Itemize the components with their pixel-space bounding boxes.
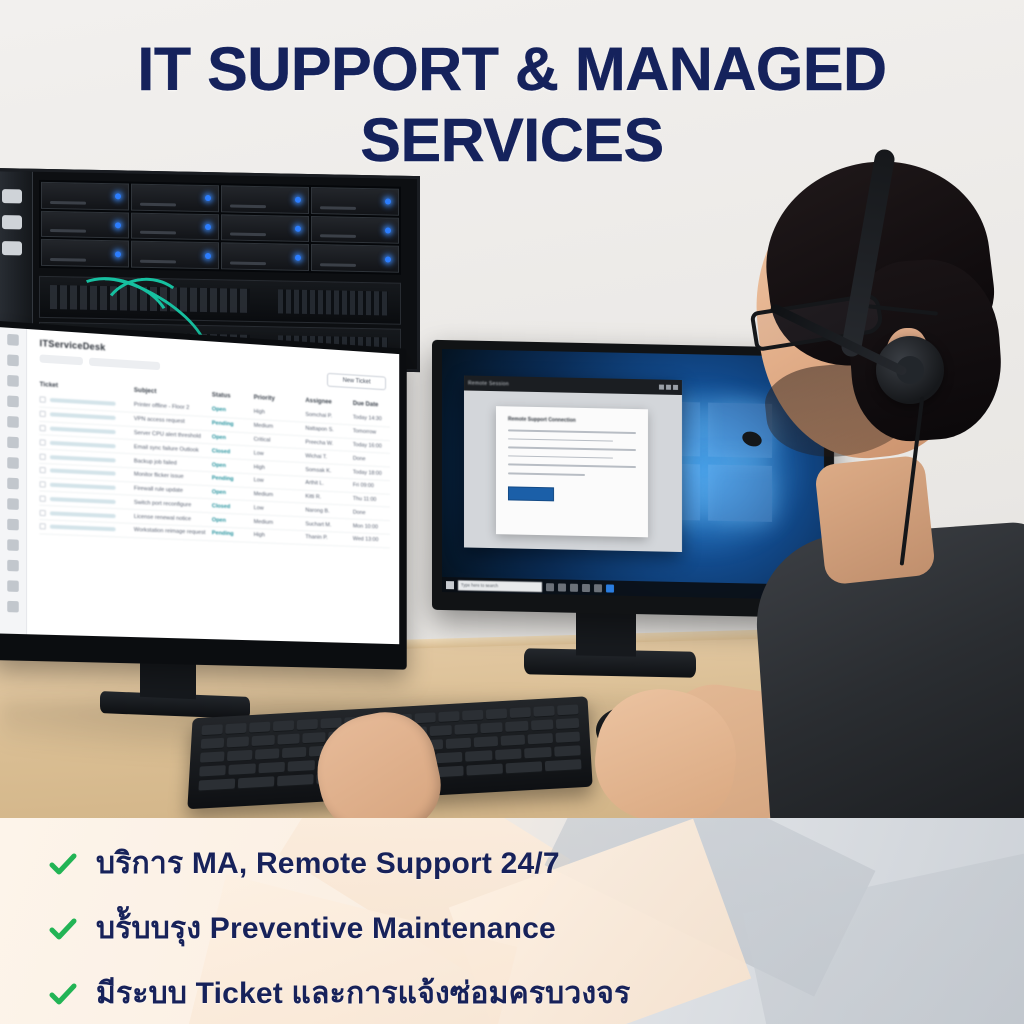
- ticket-table: TicketSubjectStatusPriorityAssigneeDue D…: [40, 381, 390, 548]
- drive-handle: [50, 258, 86, 262]
- text-line: [508, 429, 636, 433]
- drive-activity-led: [115, 222, 121, 228]
- keyboard-key[interactable]: [439, 711, 460, 723]
- knowledge-icon[interactable]: [7, 498, 18, 510]
- drive-bay: [221, 185, 309, 213]
- agent-neck: [814, 455, 936, 586]
- ticket-subject-cell: Workstation reimage request: [134, 527, 212, 536]
- keyboard-key[interactable]: [302, 732, 325, 744]
- text-line: [508, 438, 613, 442]
- ticket-id-label: [50, 455, 116, 462]
- keyboard-key[interactable]: [200, 751, 225, 763]
- poster-root: IT SUPPORT & MANAGED SERVICES: [0, 0, 1024, 1024]
- row-checkbox[interactable]: [40, 397, 46, 403]
- ticket-priority-cell: Low: [254, 450, 306, 459]
- ticket-assignee-cell: Kitti R.: [305, 494, 353, 502]
- keyboard-key[interactable]: [296, 719, 317, 731]
- ticket-assignee-cell: Somsak K.: [305, 467, 353, 475]
- feature-text: บร้ับบรุง Preventive Maintenance: [96, 905, 556, 952]
- ticket-due-cell: Fri 09:00: [353, 483, 390, 491]
- drive-bay: [221, 214, 309, 242]
- keyboard-key[interactable]: [201, 724, 222, 736]
- ticket-due-cell: Done: [353, 456, 390, 464]
- ticket-priority-cell: Low: [254, 478, 306, 486]
- minimize-icon[interactable]: [659, 385, 664, 390]
- maximize-icon[interactable]: [666, 385, 671, 390]
- ticket-status-cell: Open: [212, 434, 254, 442]
- drive-bay: [131, 241, 219, 269]
- grid-icon[interactable]: [7, 580, 18, 592]
- keyboard-key[interactable]: [277, 734, 300, 746]
- drive-bay: [311, 187, 399, 215]
- ticket-id-label: [50, 469, 116, 476]
- ticket-status-cell: Open: [212, 517, 254, 525]
- store-icon[interactable]: [594, 584, 602, 592]
- feature-list: บริการ MA, Remote Support 24/7บร้ับบรุง …: [48, 840, 630, 1017]
- keyboard-key[interactable]: [510, 707, 531, 719]
- browser-icon[interactable]: [606, 584, 614, 592]
- ticket-icon[interactable]: [7, 395, 18, 407]
- ticket-column-header[interactable]: Status: [212, 391, 254, 400]
- drive-handle: [230, 261, 266, 265]
- keyboard-key[interactable]: [226, 736, 249, 748]
- drive-handle: [320, 235, 356, 239]
- drive-bay: [131, 212, 219, 240]
- drive-activity-led: [295, 254, 301, 260]
- ticket-status-cell: Open: [212, 462, 254, 470]
- keyboard-key[interactable]: [506, 761, 543, 774]
- ticket-assignee-cell: Thanin P.: [305, 535, 353, 543]
- help-icon[interactable]: [7, 601, 18, 613]
- keyboard-key[interactable]: [229, 763, 256, 775]
- support-agent: [700, 140, 1024, 840]
- start-button-icon[interactable]: [446, 581, 454, 589]
- drive-handle: [230, 233, 266, 237]
- text-line: [508, 464, 636, 468]
- drive-activity-led: [385, 256, 391, 262]
- ticket-subject-cell: Server CPU alert threshold: [134, 430, 212, 440]
- asset-icon[interactable]: [7, 478, 18, 490]
- keyboard-key[interactable]: [227, 750, 252, 762]
- tag-icon[interactable]: [7, 519, 18, 531]
- keyboard-key[interactable]: [255, 748, 280, 760]
- ticket-id-cell[interactable]: [40, 397, 134, 409]
- check-icon: [48, 979, 78, 1009]
- page-title: IT SUPPORT & MANAGED SERVICES: [0, 34, 1024, 176]
- ticket-priority-cell: Medium: [254, 491, 306, 499]
- ticket-id-cell[interactable]: [40, 509, 134, 519]
- flag-icon[interactable]: [7, 560, 18, 572]
- ticket-due-cell: Today 16:00: [353, 442, 390, 450]
- feature-item: บริการ MA, Remote Support 24/7: [48, 840, 630, 887]
- keyboard-key[interactable]: [446, 738, 471, 750]
- dashboard-icon[interactable]: [7, 334, 18, 346]
- keyboard-key[interactable]: [238, 776, 275, 789]
- ticket-id-cell[interactable]: [40, 453, 134, 464]
- feature-item: มีระบบ Ticket และการแจ้งซ่อมครบวงจร: [48, 970, 630, 1017]
- keyboard-key[interactable]: [557, 704, 578, 716]
- ticket-subject-cell: Backup job failed: [134, 458, 212, 468]
- ticket-id-cell[interactable]: [40, 481, 134, 492]
- text-line: [508, 455, 613, 459]
- ticket-status-cell: Open: [212, 407, 254, 415]
- ticket-id-cell[interactable]: [40, 467, 134, 478]
- keyboard-key[interactable]: [473, 736, 498, 748]
- keyboard-key[interactable]: [225, 723, 246, 735]
- user-icon[interactable]: [7, 354, 18, 366]
- headline-line-2: SERVICES: [0, 105, 1024, 176]
- drive-handle: [50, 229, 86, 233]
- keyboard-key[interactable]: [531, 719, 554, 731]
- ticket-subject-cell: Firewall rule update: [134, 486, 212, 496]
- ticket-due-cell: Tomorrow: [353, 429, 390, 437]
- ticket-id-cell[interactable]: [40, 439, 134, 450]
- keyboard-key[interactable]: [288, 760, 315, 772]
- drive-activity-led: [115, 251, 121, 257]
- keyboard-key[interactable]: [415, 712, 436, 724]
- keyboard-key[interactable]: [455, 724, 478, 736]
- ticket-status-cell: Pending: [212, 421, 254, 429]
- inbox-icon[interactable]: [7, 375, 18, 387]
- ticket-assignee-cell: Nattapon S.: [305, 426, 353, 435]
- keyboard-key[interactable]: [273, 720, 294, 732]
- check-icon: [48, 849, 78, 879]
- drive-bay: [41, 239, 129, 267]
- keyboard-key[interactable]: [258, 762, 285, 774]
- ticket-column-header[interactable]: Due Date: [353, 400, 390, 409]
- cortana-icon[interactable]: [546, 583, 554, 591]
- row-checkbox[interactable]: [40, 439, 46, 445]
- ticket-priority-cell: Medium: [254, 519, 306, 527]
- drive-bay: [311, 244, 399, 272]
- ticket-id-label: [50, 497, 116, 504]
- feature-text: มีระบบ Ticket และการแจ้งซ่อมครบวงจร: [96, 970, 630, 1017]
- mail-icon[interactable]: [582, 583, 590, 591]
- ticket-status-cell: Open: [212, 489, 254, 497]
- keyboard-key[interactable]: [282, 747, 307, 759]
- drive-handle: [140, 231, 176, 235]
- keyboard-key[interactable]: [480, 722, 503, 734]
- row-checkbox[interactable]: [40, 481, 46, 487]
- ticket-id-cell[interactable]: [40, 425, 134, 436]
- row-checkbox[interactable]: [40, 524, 46, 530]
- ticket-column-header[interactable]: Priority: [254, 394, 306, 404]
- keyboard-key[interactable]: [501, 735, 526, 747]
- drive-handle: [320, 206, 356, 210]
- connect-button[interactable]: [508, 486, 554, 501]
- ticket-subject-cell: Switch port reconfigure: [134, 500, 212, 510]
- row-checkbox[interactable]: [40, 495, 46, 501]
- keyboard-key[interactable]: [465, 750, 492, 762]
- remote-dialog: Remote Support Connection: [496, 406, 648, 537]
- drive-handle: [230, 204, 266, 208]
- feature-text: บริการ MA, Remote Support 24/7: [96, 840, 560, 887]
- ticket-table-body: Printer offline - Floor 2OpenHighSomchai…: [40, 393, 390, 548]
- ticket-priority-cell: High: [254, 409, 306, 418]
- keyboard-key[interactable]: [545, 759, 582, 772]
- drive-handle: [140, 202, 176, 206]
- ticket-due-cell: Wed 13:00: [353, 537, 390, 544]
- taskview-icon[interactable]: [558, 583, 566, 591]
- headline-line-1: IT SUPPORT & MANAGED: [0, 34, 1024, 105]
- drive-handle: [320, 263, 356, 267]
- drive-activity-led: [115, 194, 121, 200]
- ticket-due-cell: Thu 11:00: [353, 496, 390, 504]
- row-checkbox[interactable]: [40, 509, 46, 515]
- ticket-priority-cell: Medium: [254, 423, 306, 432]
- rack-clip: [2, 215, 22, 229]
- right-monitor-stand: [576, 611, 636, 656]
- ticket-assignee-cell: Somchai P.: [305, 412, 353, 421]
- ticket-due-cell: Today 18:00: [353, 469, 390, 477]
- drive-activity-led: [205, 224, 211, 230]
- drive-activity-led: [385, 199, 391, 205]
- keyboard-key[interactable]: [528, 733, 553, 745]
- ticket-priority-cell: High: [254, 532, 306, 540]
- left-monitor: ITServiceDesk TicketSubjectStatusPriorit…: [0, 320, 407, 669]
- ticket-column-header[interactable]: Ticket: [40, 381, 134, 394]
- folder-icon[interactable]: [7, 539, 18, 551]
- drive-activity-led: [295, 197, 301, 203]
- ticket-subject-cell: Monitor flicker issue: [134, 472, 212, 482]
- ticket-status-cell: Pending: [212, 476, 254, 484]
- explorer-icon[interactable]: [570, 583, 578, 591]
- ticket-priority-cell: High: [254, 464, 306, 473]
- keyboard-key[interactable]: [249, 722, 270, 734]
- ticket-assignee-cell: Narong B.: [305, 507, 353, 515]
- ticket-id-cell[interactable]: [40, 495, 134, 505]
- ticket-id-label: [50, 511, 116, 518]
- row-checkbox[interactable]: [40, 467, 46, 473]
- keyboard-key[interactable]: [436, 752, 463, 764]
- remote-dialog-title: Remote Support Connection: [508, 416, 636, 425]
- keyboard-key[interactable]: [201, 738, 224, 750]
- left-monitor-screen: ITServiceDesk TicketSubjectStatusPriorit…: [0, 327, 399, 644]
- row-checkbox[interactable]: [40, 411, 46, 417]
- ticket-priority-cell: Critical: [254, 437, 306, 446]
- ticket-assignee-cell: Preecha W.: [305, 439, 353, 447]
- filter-pill[interactable]: [40, 354, 83, 365]
- headset-mic-tip: [740, 429, 764, 449]
- ticket-assignee-cell: Wichai T.: [305, 453, 353, 461]
- rack-clip: [2, 189, 22, 203]
- filter-pill[interactable]: [89, 358, 160, 371]
- keyboard-key[interactable]: [506, 721, 529, 733]
- drive-activity-led: [205, 195, 211, 201]
- keyboard-key[interactable]: [199, 765, 226, 777]
- drive-bay: [41, 182, 129, 210]
- keyboard-key[interactable]: [467, 764, 503, 777]
- row-checkbox[interactable]: [40, 425, 46, 431]
- keyboard-key[interactable]: [534, 706, 555, 718]
- keyboard-key[interactable]: [524, 747, 551, 759]
- taskbar-search-input[interactable]: Type here to search: [458, 580, 542, 592]
- ticket-subject-cell: VPN access request: [134, 416, 212, 426]
- ticket-status-cell: Pending: [212, 531, 254, 539]
- ticket-assignee-cell: Arthit L.: [305, 480, 353, 488]
- ticket-assignee-cell: Suchart M.: [305, 521, 353, 529]
- remote-window-titlebar[interactable]: Remote Session: [464, 375, 682, 395]
- keyboard-key[interactable]: [463, 710, 484, 722]
- drive-bay: [131, 184, 219, 212]
- keyboard-key[interactable]: [486, 708, 507, 720]
- remote-window-title: Remote Session: [468, 380, 509, 387]
- keyboard-key[interactable]: [252, 735, 275, 747]
- remote-session-window[interactable]: Remote Session Remote Support Connection: [464, 375, 682, 552]
- ticket-subject-cell: License renewal notice: [134, 514, 212, 523]
- ticket-priority-cell: Low: [254, 505, 306, 513]
- ticket-column-header[interactable]: Assignee: [305, 397, 353, 407]
- row-checkbox[interactable]: [40, 453, 46, 459]
- ticket-id-cell[interactable]: [40, 411, 134, 422]
- drive-bay: [41, 211, 129, 239]
- ticket-due-cell: Mon 10:00: [353, 523, 390, 530]
- rack-clip: [2, 241, 22, 255]
- ticket-due-cell: Done: [353, 510, 390, 518]
- ticket-id-label: [50, 441, 116, 449]
- keyboard-key[interactable]: [277, 774, 313, 787]
- check-icon: [48, 914, 78, 944]
- text-line: [508, 472, 585, 475]
- ticket-id-label: [50, 525, 116, 532]
- drive-bay: [311, 216, 399, 244]
- drive-bay: [221, 243, 309, 271]
- ticket-column-header[interactable]: Subject: [134, 387, 212, 399]
- drive-handle: [50, 201, 86, 205]
- ticket-status-cell: Closed: [212, 503, 254, 511]
- ticket-subject-cell: Email sync failure Outlook: [134, 444, 212, 454]
- keyboard-key[interactable]: [430, 725, 453, 737]
- calendar-icon[interactable]: [7, 437, 18, 449]
- ticket-subject-cell: Printer offline - Floor 2: [134, 402, 212, 413]
- ticket-due-cell: Today 14:30: [353, 415, 390, 423]
- keyboard-key[interactable]: [555, 732, 580, 744]
- drive-activity-led: [385, 227, 391, 233]
- feature-item: บร้ับบรุง Preventive Maintenance: [48, 905, 630, 952]
- window-controls[interactable]: [659, 385, 678, 390]
- switch-ports-secondary: [278, 289, 388, 315]
- ticket-id-label: [50, 398, 116, 406]
- ticket-status-cell: Closed: [212, 448, 254, 456]
- keyboard-key[interactable]: [554, 745, 581, 757]
- settings-icon[interactable]: [7, 457, 18, 469]
- drive-activity-led: [295, 226, 301, 232]
- keyboard-key[interactable]: [556, 718, 579, 730]
- ticket-id-label: [50, 483, 116, 490]
- drive-bay-bank: [39, 180, 401, 275]
- feature-band: บริการ MA, Remote Support 24/7บร้ับบรุง …: [0, 818, 1024, 1024]
- keyboard-key[interactable]: [495, 749, 522, 761]
- keyboard-key[interactable]: [198, 778, 235, 791]
- text-line: [508, 447, 636, 451]
- ticket-id-label: [50, 412, 116, 420]
- close-icon[interactable]: [673, 385, 678, 390]
- ticket-id-cell[interactable]: [40, 524, 134, 534]
- ticket-id-label: [50, 426, 116, 434]
- dashboard-sidebar[interactable]: [0, 327, 27, 634]
- drive-activity-led: [205, 253, 211, 259]
- report-icon[interactable]: [7, 416, 18, 428]
- drive-handle: [140, 260, 176, 264]
